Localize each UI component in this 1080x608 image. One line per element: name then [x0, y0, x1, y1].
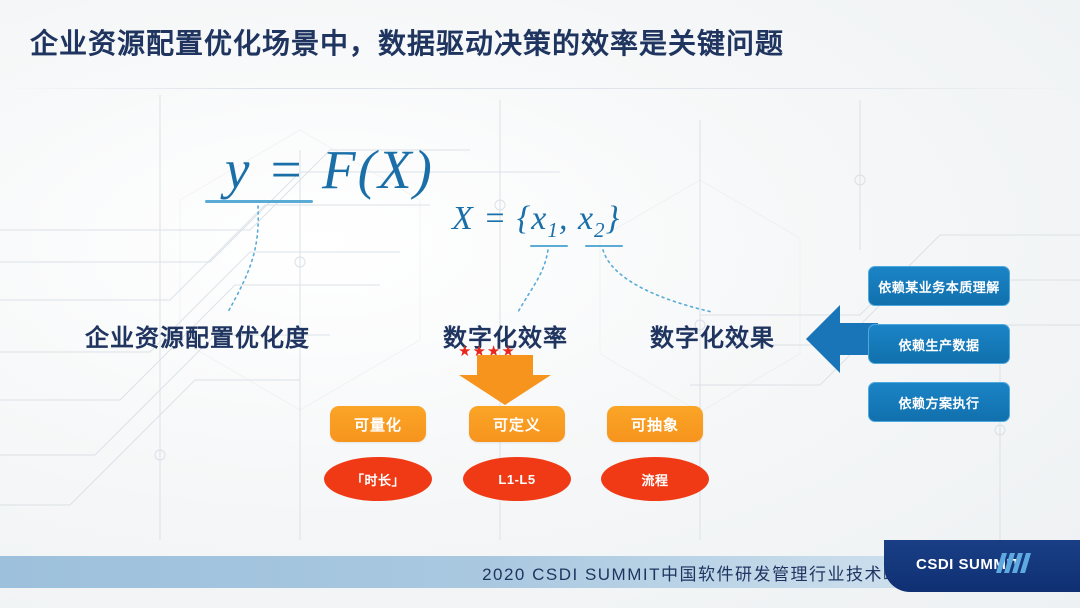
logo-wave-icon: [996, 553, 1042, 573]
dependency-box-production-data[interactable]: 依赖生产数据: [868, 324, 1010, 364]
slide-canvas: 企业资源配置优化场景中，数据驱动决策的效率是关键问题 y = F(X) X = …: [0, 0, 1080, 608]
formula-sub-suffix: }: [606, 200, 621, 237]
pill-quantifiable[interactable]: 可量化: [330, 406, 426, 442]
label-resource-optimization: 企业资源配置优化度: [85, 318, 310, 353]
slide-title: 企业资源配置优化场景中，数据驱动决策的效率是关键问题: [30, 22, 784, 62]
oval-process[interactable]: 流程: [601, 457, 709, 501]
dependency-box-plan-execution[interactable]: 依赖方案执行: [868, 382, 1010, 422]
formula-sub: X = {x1, x2}: [452, 200, 620, 243]
oval-l1-l5[interactable]: L1-L5: [463, 457, 571, 501]
formula-sub-index-1: 1: [547, 218, 559, 242]
oval-duration[interactable]: 「时长」: [324, 457, 432, 501]
pill-definable[interactable]: 可定义: [469, 406, 565, 442]
formula-sub-prefix: X = {x: [452, 200, 547, 237]
formula-main: y = F(X): [225, 138, 434, 201]
orange-down-arrow-icon: [459, 355, 551, 405]
underline-x2: [585, 245, 623, 247]
underline-x1: [530, 245, 568, 247]
formula-sub-mid: , x: [559, 200, 594, 237]
label-digital-effect: 数字化效果: [650, 318, 775, 353]
title-divider: [0, 88, 1080, 89]
dependency-box-business-understanding[interactable]: 依赖某业务本质理解: [868, 266, 1010, 306]
formula-sub-index-2: 2: [594, 218, 606, 242]
pill-abstractable[interactable]: 可抽象: [607, 406, 703, 442]
footer-text: 2020 CSDI SUMMIT中国软件研发管理行业技术峰会: [0, 556, 1012, 588]
underline-y: [205, 200, 313, 203]
